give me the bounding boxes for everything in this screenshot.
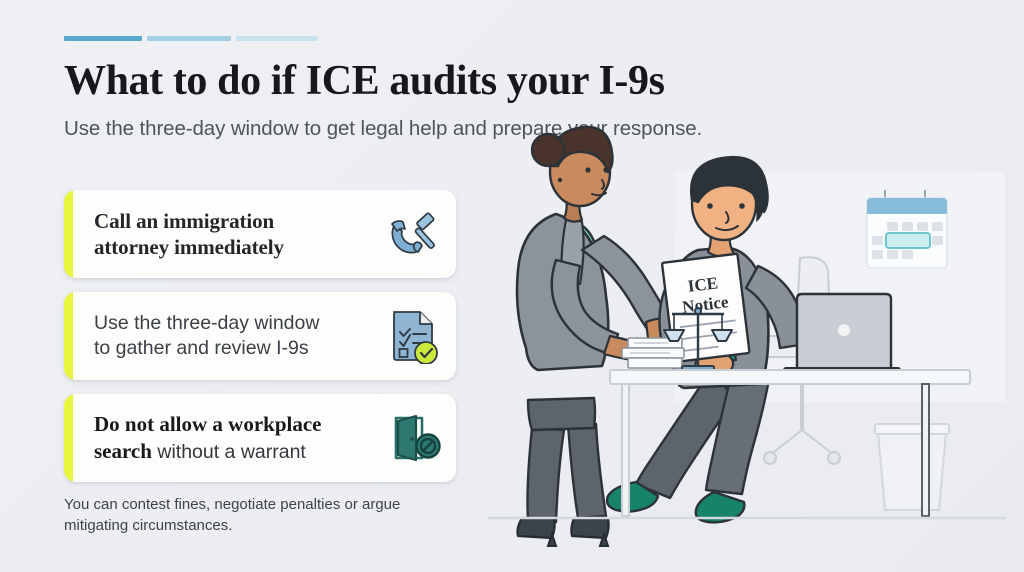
card3-bold-line2: search <box>94 439 152 463</box>
card-three-day-window: Use the three-day window to gather and r… <box>64 292 456 380</box>
card-three-day-window-text: Use the three-day window to gather and r… <box>64 311 372 360</box>
card-no-warrantless-search-text: Do not allow a workplace search without … <box>64 411 372 464</box>
ice-notice-label-line1: ICE <box>687 273 719 296</box>
wall-calendar <box>867 190 947 268</box>
checklist-document-icon <box>372 301 456 371</box>
card-call-attorney-text: Call an immigration attorney immediately <box>64 208 372 261</box>
footnote-text: You can contest fines, negotiate penalti… <box>64 494 464 537</box>
card-no-warrantless-search: Do not allow a workplace search without … <box>64 394 456 482</box>
card-call-attorney: Call an immigration attorney immediately <box>64 190 456 278</box>
door-no-entry-icon <box>372 403 456 473</box>
card1-line1: Call an immigration <box>94 209 274 233</box>
card3-bold-line1: Do not allow a workplace <box>94 412 322 436</box>
card-accent-bar <box>64 190 73 278</box>
rule-segment-3 <box>236 36 318 41</box>
card1-line2: attorney immediately <box>94 235 284 259</box>
waste-bin <box>875 424 949 510</box>
rule-segment-1 <box>64 36 142 41</box>
rule-segment-2 <box>147 36 231 41</box>
infographic-canvas: What to do if ICE audits your I-9s Use t… <box>0 0 1024 572</box>
calendar-highlight-three-day-window <box>886 233 930 248</box>
card-accent-bar <box>64 394 73 482</box>
phone-gavel-icon <box>372 199 456 269</box>
laptop <box>784 294 900 375</box>
card-accent-bar <box>64 292 73 380</box>
decorative-rule <box>64 36 318 41</box>
paper-stack <box>622 338 684 368</box>
card3-regular: without a warrant <box>152 441 306 463</box>
office-scene-illustration: ICE Notice <box>470 0 1024 572</box>
card2-line2: to gather and review I-9s <box>94 337 309 359</box>
card2-line1: Use the three-day window <box>94 312 319 334</box>
